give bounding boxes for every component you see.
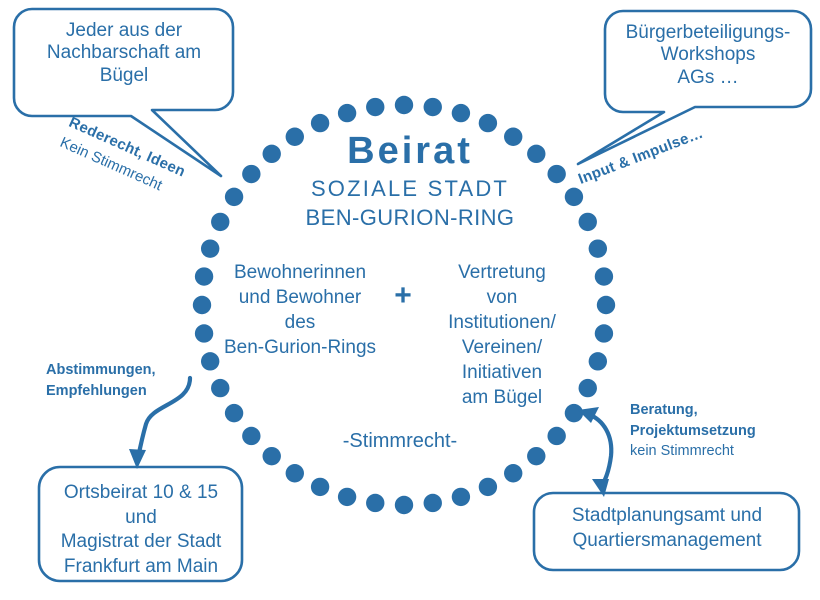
col-left-line-4: Ben-Gurion-Rings xyxy=(210,335,390,360)
ring-dot xyxy=(311,478,329,496)
col-right-line-5: Initiativen xyxy=(432,360,572,385)
ring-column-left: Bewohnerinnen und Bewohner des Ben-Gurio… xyxy=(210,260,390,360)
col-right-line-4: Vereinen/ xyxy=(432,335,572,360)
ring-dot xyxy=(366,494,384,512)
ring-dot xyxy=(201,239,219,257)
ring-dot xyxy=(479,478,497,496)
col-left-line-3: des xyxy=(210,310,390,335)
label-beratung-line-3: kein Stimmrecht xyxy=(630,441,820,462)
ring-dot xyxy=(527,447,545,465)
box-bl-line-3: Magistrat der Stadt xyxy=(44,530,238,555)
voting-rights-note: -Stimmrecht- xyxy=(280,430,520,454)
box-bl-line-4: Frankfurt am Main xyxy=(44,555,238,580)
label-beratung: Beratung, Projektumsetzung kein Stimmrec… xyxy=(630,400,820,462)
box-bottom-right-text: Stadtplanungsamt und Quartiersmanagement xyxy=(540,504,794,553)
ring-dot xyxy=(452,488,470,506)
label-abstimmungen-line-1: Abstimmungen, xyxy=(46,360,226,381)
label-beratung-line-1: Beratung, xyxy=(630,400,820,421)
bubble-tr-line-1: Bürgerbeteiligungs- xyxy=(612,22,804,44)
label-abstimmungen-line-2: Empfehlungen xyxy=(46,381,226,402)
ring-dot xyxy=(424,98,442,116)
col-right-line-6: am Bügel xyxy=(432,385,572,410)
col-right-line-1: Vertretung xyxy=(432,260,572,285)
ring-dot xyxy=(338,104,356,122)
col-left-line-2: und Bewohner xyxy=(210,285,390,310)
box-bottom-left-text: Ortsbeirat 10 & 15 und Magistrat der Sta… xyxy=(44,481,238,580)
box-br-line-1: Stadtplanungsamt und xyxy=(540,504,794,529)
bubble-tr-line-3: AGs … xyxy=(612,67,804,89)
bubble-tl-line-1: Jeder aus der xyxy=(22,20,226,42)
col-left-line-1: Bewohnerinnen xyxy=(210,260,390,285)
ring-dot xyxy=(597,296,615,314)
label-beratung-line-2: Projektumsetzung xyxy=(630,421,820,442)
ring-dot xyxy=(242,427,260,445)
ring-dot xyxy=(225,404,243,422)
bubble-top-right-text: Bürgerbeteiligungs- Workshops AGs … xyxy=(612,22,804,89)
box-bl-line-2: und xyxy=(44,506,238,531)
arrow-right-double xyxy=(578,407,611,497)
bubble-top-left-text: Jeder aus der Nachbarschaft am Bügel xyxy=(22,20,226,87)
ring-dot xyxy=(263,447,281,465)
ring-dot xyxy=(395,496,413,514)
ring-dot xyxy=(589,352,607,370)
col-right-line-2: von xyxy=(432,285,572,310)
subtitle-ben-gurion-ring: BEN-GURION-RING xyxy=(0,205,820,231)
ring-dot xyxy=(338,488,356,506)
ring-column-right: Vertretung von Institutionen/ Vereinen/ … xyxy=(432,260,572,410)
bubble-tl-line-3: Bügel xyxy=(22,65,226,87)
box-bl-line-1: Ortsbeirat 10 & 15 xyxy=(44,481,238,506)
ring-dot xyxy=(504,464,522,482)
bubble-tl-line-2: Nachbarschaft am xyxy=(22,42,226,64)
ring-dot xyxy=(579,379,597,397)
ring-dot xyxy=(595,324,613,342)
ring-dot xyxy=(286,464,304,482)
box-br-line-2: Quartiersmanagement xyxy=(540,529,794,554)
bubble-tr-line-2: Workshops xyxy=(612,44,804,66)
ring-dot xyxy=(452,104,470,122)
ring-dot xyxy=(424,494,442,512)
diagram-canvas: Jeder aus der Nachbarschaft am Bügel Bür… xyxy=(0,0,820,600)
ring-dot xyxy=(366,98,384,116)
ring-dot xyxy=(395,96,413,114)
col-right-line-3: Institutionen/ xyxy=(432,310,572,335)
ring-dot xyxy=(595,267,613,285)
ring-dot xyxy=(589,239,607,257)
ring-dot xyxy=(547,427,565,445)
ring-dot xyxy=(193,296,211,314)
plus-sign: + xyxy=(386,278,420,313)
label-abstimmungen: Abstimmungen, Empfehlungen xyxy=(46,360,226,401)
